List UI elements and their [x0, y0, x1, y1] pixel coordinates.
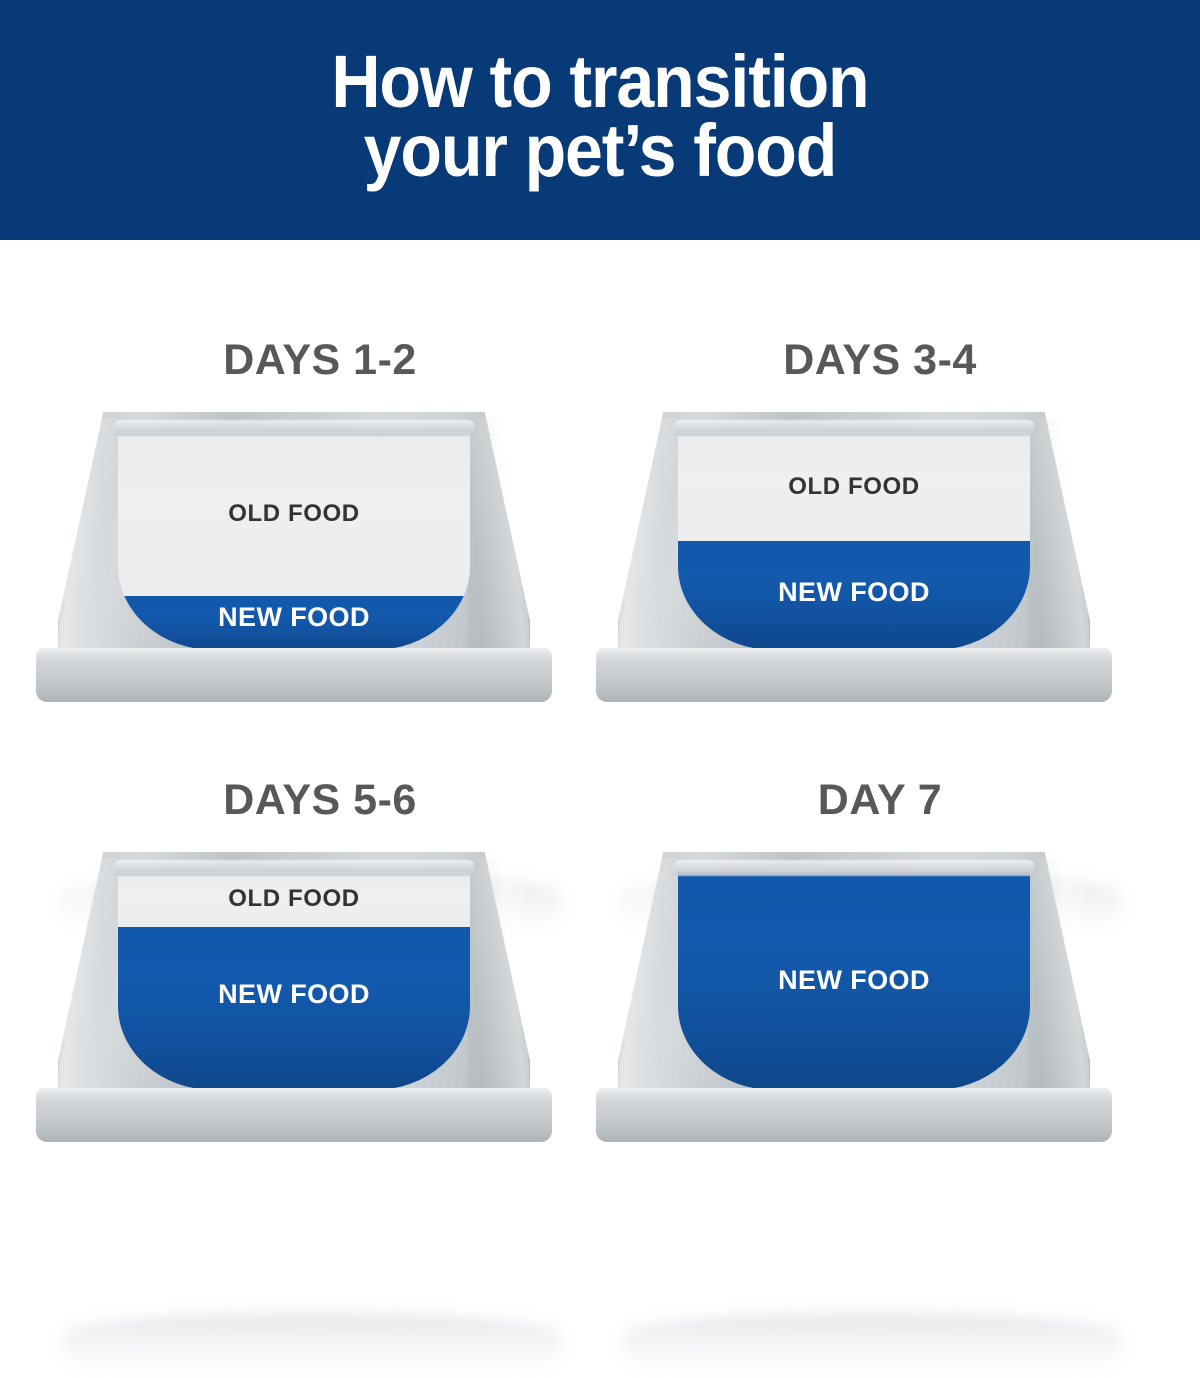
bowl-base: [596, 1092, 1112, 1142]
new-food-label: NEW FOOD: [678, 577, 1030, 608]
header-banner: How to transition your pet’s food: [0, 0, 1200, 240]
bowls-grid: DAYS 1-2 OLD FOOD NEW FOOD DAYS 3-4: [0, 240, 1200, 1200]
bowl-cavity: OLD FOOD NEW FOOD: [678, 432, 1030, 650]
step-day-label: DAY 7: [600, 776, 1160, 825]
new-food-label: NEW FOOD: [118, 602, 470, 633]
step-day-label: DAYS 5-6: [40, 776, 600, 825]
old-food-label: OLD FOOD: [118, 500, 470, 528]
bowl-reflection: [624, 1314, 1120, 1378]
bowl-cavity: OLD FOOD NEW FOOD: [118, 432, 470, 650]
bowl-cavity: OLD FOOD NEW FOOD: [118, 872, 470, 1090]
new-food-fill: NEW FOOD: [678, 541, 1030, 650]
new-food-fill: NEW FOOD: [678, 872, 1030, 1090]
bowl-cavity: NEW FOOD: [678, 872, 1030, 1090]
bowl-rim: [114, 420, 474, 436]
old-food-label: OLD FOOD: [118, 885, 470, 913]
old-food-fill: OLD FOOD: [118, 432, 470, 596]
old-food-label: OLD FOOD: [678, 473, 1030, 501]
new-food-label: NEW FOOD: [678, 965, 1030, 996]
transition-step-days-5-6: DAYS 5-6 OLD FOOD NEW FOOD: [40, 680, 600, 1160]
bowl-rim: [114, 860, 474, 876]
transition-step-day-7: DAY 7 NEW FOOD: [600, 680, 1160, 1160]
bowl-reflection: [64, 1314, 560, 1378]
step-day-label: DAYS 1-2: [40, 336, 600, 385]
transition-step-days-1-2: DAYS 1-2 OLD FOOD NEW FOOD: [40, 240, 600, 720]
old-food-fill: OLD FOOD: [678, 432, 1030, 541]
bowl-rim: [674, 420, 1034, 436]
new-food-fill: NEW FOOD: [118, 596, 470, 651]
new-food-fill: NEW FOOD: [118, 927, 470, 1091]
food-bowl: OLD FOOD NEW FOOD: [618, 412, 1090, 702]
food-bowl: OLD FOOD NEW FOOD: [58, 852, 530, 1142]
food-bowl: NEW FOOD: [618, 852, 1090, 1142]
bowl-base: [36, 1092, 552, 1142]
food-bowl: OLD FOOD NEW FOOD: [58, 412, 530, 702]
page-title: How to transition your pet’s food: [331, 48, 868, 186]
new-food-label: NEW FOOD: [118, 979, 470, 1010]
old-food-fill: OLD FOOD: [118, 872, 470, 927]
transition-step-days-3-4: DAYS 3-4 OLD FOOD NEW FOOD: [600, 240, 1160, 720]
bowl-rim: [674, 860, 1034, 876]
step-day-label: DAYS 3-4: [600, 336, 1160, 385]
